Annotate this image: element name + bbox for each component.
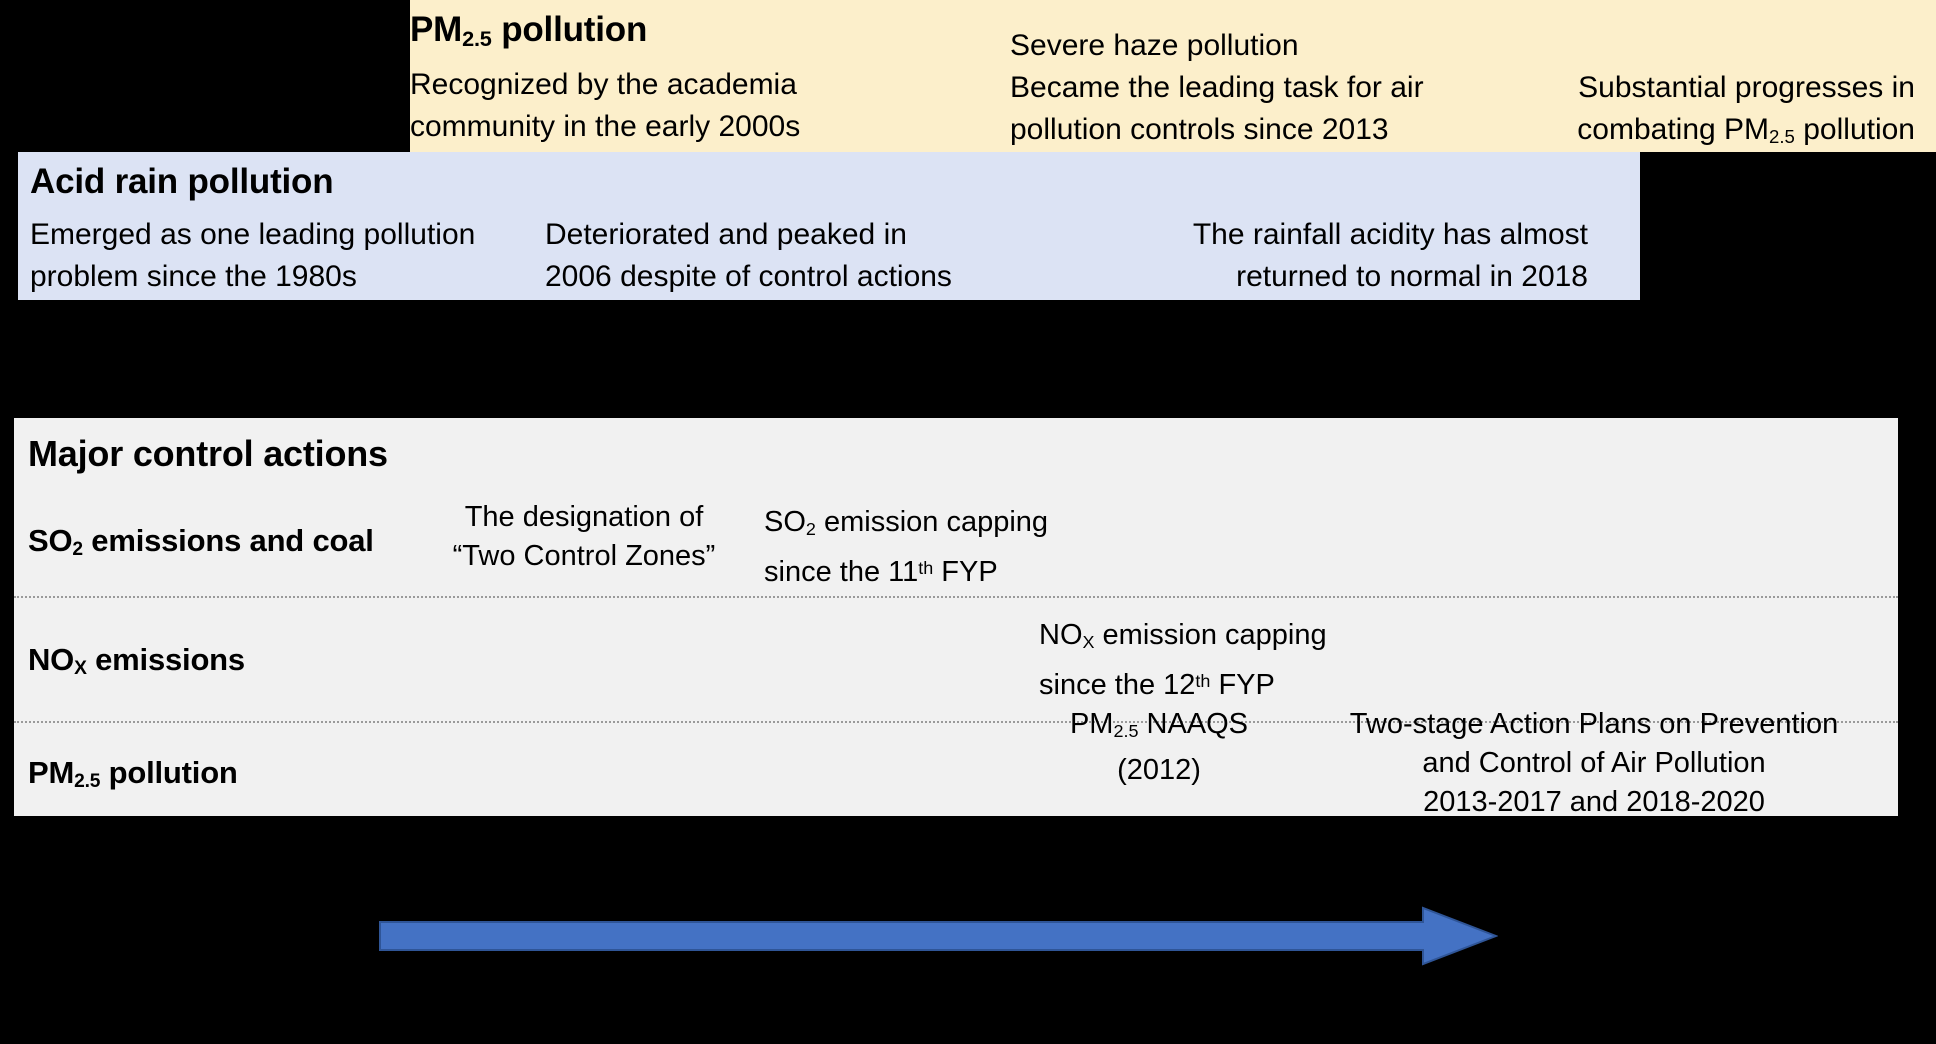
control-row-so2-label: SO2 emissions and coal [28, 523, 374, 561]
so2-cell-b-line2-suffix: FYP [933, 556, 997, 588]
pm25-band-title: PM2.5 pollution [410, 10, 647, 52]
pm25-column-2: Severe haze pollution Became the leading… [1010, 25, 1480, 151]
acid-col3-line2: returned to normal in 2018 [1158, 256, 1588, 298]
so2-cell-a-line1: The designation of [434, 498, 734, 537]
so2-cell-b-line1-suffix: emission capping [816, 506, 1048, 538]
nox-cell-a-line2-suffix: FYP [1210, 669, 1274, 701]
time-arrow-icon [378, 905, 1498, 967]
pm25-cell-b-line2: and Control of Air Pollution [1314, 744, 1874, 783]
nox-label-suffix: emissions [87, 642, 245, 677]
acid-band-title: Acid rain pollution [30, 162, 333, 202]
pm25-col3-line2-prefix: combating PM [1577, 113, 1769, 146]
nox-cell-a-line1: NOX emission capping [1039, 616, 1369, 662]
pm25-col2-line3: pollution controls since 2013 [1010, 109, 1480, 151]
pm25-col1-line1: Recognized by the academia [410, 64, 850, 106]
pm25-cell-a-line1-subscript: 2.5 [1113, 721, 1138, 741]
control-panel-title: Major control actions [28, 433, 388, 475]
nox-cell-a-line1-suffix: emission capping [1095, 619, 1327, 651]
acid-col1-line2: problem since the 1980s [30, 256, 510, 298]
control-row-pm25: PM2.5 pollution PM2.5 NAAQS (2012) Two-s… [14, 723, 1898, 816]
pm25-col3-line1: Substantial progresses in [1515, 67, 1915, 109]
pm25-col3-line2-suffix: pollution [1795, 113, 1915, 146]
pm25-row-label-subscript: 2.5 [74, 771, 100, 792]
pm25-title-prefix: PM [410, 10, 462, 49]
pm25-cell-a-line1-prefix: PM [1070, 708, 1114, 740]
acid-column-1: Emerged as one leading pollution problem… [30, 214, 510, 298]
acid-col2-line1: Deteriorated and peaked in [545, 214, 1025, 256]
so2-label-subscript: 2 [72, 539, 82, 560]
arrow-shape [380, 908, 1496, 964]
pm25-cell-a-line1-suffix: NAAQS [1138, 708, 1248, 740]
pm25-col1-line2: community in the early 2000s [410, 106, 850, 148]
pm25-row-label-prefix: PM [28, 755, 74, 790]
pm25-cell-a-line1: PM2.5 NAAQS [1034, 705, 1284, 751]
pm25-cell-b-line3: 2013-2017 and 2018-2020 [1314, 783, 1874, 822]
pm25-column-3: Substantial progresses in combating PM2.… [1515, 67, 1915, 158]
so2-cell-b-line1: SO2 emission capping [764, 503, 1094, 549]
nox-cell-a-line1-subscript: X [1083, 632, 1095, 652]
so2-cell-b-line1-subscript: 2 [806, 519, 816, 539]
so2-cell-b-line2: since the 11th FYP [764, 549, 1094, 592]
nox-cell-a-line2-superscript: th [1195, 671, 1210, 691]
pm25-col3-line2-subscript: 2.5 [1769, 126, 1795, 147]
nox-cell-a-line2: since the 12th FYP [1039, 662, 1369, 705]
major-control-actions-panel: Major control actions SO2 emissions and … [14, 418, 1898, 816]
control-row-so2-cell-two-control-zones: The designation of “Two Control Zones” [434, 498, 734, 576]
pm25-title-subscript: 2.5 [462, 26, 492, 51]
so2-label-prefix: SO [28, 523, 72, 558]
pm25-col3-line2: combating PM2.5 pollution [1515, 109, 1915, 158]
acid-column-3: The rainfall acidity has almost returned… [1158, 214, 1588, 298]
control-row-pm25-cell-naaqs: PM2.5 NAAQS (2012) [1034, 705, 1284, 790]
nox-cell-a-line1-prefix: NO [1039, 619, 1083, 651]
control-row-so2-cell-emission-capping: SO2 emission capping since the 11th FYP [764, 503, 1094, 592]
pm25-cell-a-line2: (2012) [1034, 751, 1284, 790]
control-row-nox-cell-emission-capping: NOX emission capping since the 12th FYP [1039, 616, 1369, 705]
pm25-col2-line2: Became the leading task for air [1010, 67, 1480, 109]
acid-col1-line1: Emerged as one leading pollution [30, 214, 510, 256]
control-row-so2: SO2 emissions and coal The designation o… [14, 493, 1898, 598]
control-row-nox-label: NOX emissions [28, 642, 245, 680]
control-row-pm25-label: PM2.5 pollution [28, 755, 238, 793]
acid-col2-line2: 2006 despite of control actions [545, 256, 1025, 298]
pm25-row-label-suffix: pollution [100, 755, 237, 790]
nox-label-subscript: X [74, 658, 87, 679]
control-row-pm25-cell-action-plans: Two-stage Action Plans on Prevention and… [1314, 705, 1874, 822]
pm25-column-1: Recognized by the academia community in … [410, 64, 850, 148]
pm25-col2-line1: Severe haze pollution [1010, 25, 1480, 67]
nox-cell-a-line2-prefix: since the 12 [1039, 669, 1195, 701]
pm25-cell-b-line1: Two-stage Action Plans on Prevention [1314, 705, 1874, 744]
so2-cell-b-line2-superscript: th [918, 558, 933, 578]
so2-cell-b-line2-prefix: since the 11 [764, 556, 918, 588]
so2-cell-a-line2: “Two Control Zones” [434, 537, 734, 576]
nox-label-prefix: NO [28, 642, 74, 677]
acid-col3-line1: The rainfall acidity has almost [1158, 214, 1588, 256]
so2-cell-b-line1-prefix: SO [764, 506, 806, 538]
acid-rain-pollution-band: Acid rain pollution Emerged as one leadi… [18, 152, 1640, 300]
pm25-pollution-band: PM2.5 pollution Recognized by the academ… [410, 0, 1936, 152]
acid-column-2: Deteriorated and peaked in 2006 despite … [545, 214, 1025, 298]
so2-label-suffix: emissions and coal [83, 523, 374, 558]
pm25-title-suffix: pollution [492, 10, 647, 49]
